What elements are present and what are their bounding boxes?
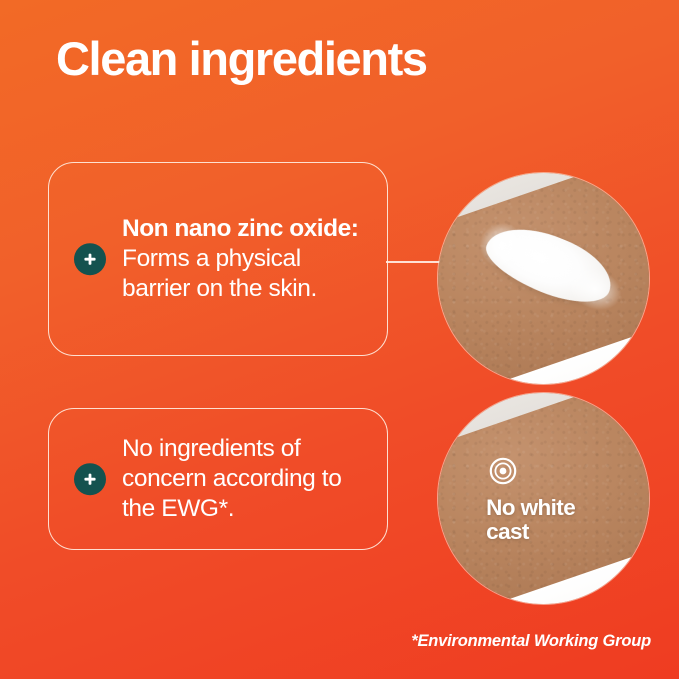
promo-graphic: Clean ingredients Non nano zinc oxide: F… xyxy=(0,0,679,679)
plus-icon xyxy=(74,243,106,275)
no-white-cast-overlay: No white cast xyxy=(486,456,626,544)
connector-line xyxy=(386,261,442,263)
photo-cream-swatch xyxy=(437,172,650,385)
footnote: *Environmental Working Group xyxy=(411,632,651,651)
feature-card-heading: Non nano zinc oxide: xyxy=(122,214,373,244)
page-title: Clean ingredients xyxy=(56,34,427,83)
photo-no-white-cast: No white cast xyxy=(437,392,650,605)
feature-card-body: Non nano zinc oxide: Forms a physical ba… xyxy=(122,214,373,304)
plus-icon xyxy=(74,463,106,495)
feature-card-text: No ingredients of concern according to t… xyxy=(122,434,373,524)
feature-card-text: Forms a physical barrier on the skin. xyxy=(122,244,373,304)
feature-card-zinc-oxide: Non nano zinc oxide: Forms a physical ba… xyxy=(48,162,388,356)
target-circles-icon xyxy=(488,456,518,486)
feature-card-body: No ingredients of concern according to t… xyxy=(122,434,373,524)
feature-card-ewg: No ingredients of concern according to t… xyxy=(48,408,388,550)
no-white-cast-label: No white cast xyxy=(486,496,626,544)
